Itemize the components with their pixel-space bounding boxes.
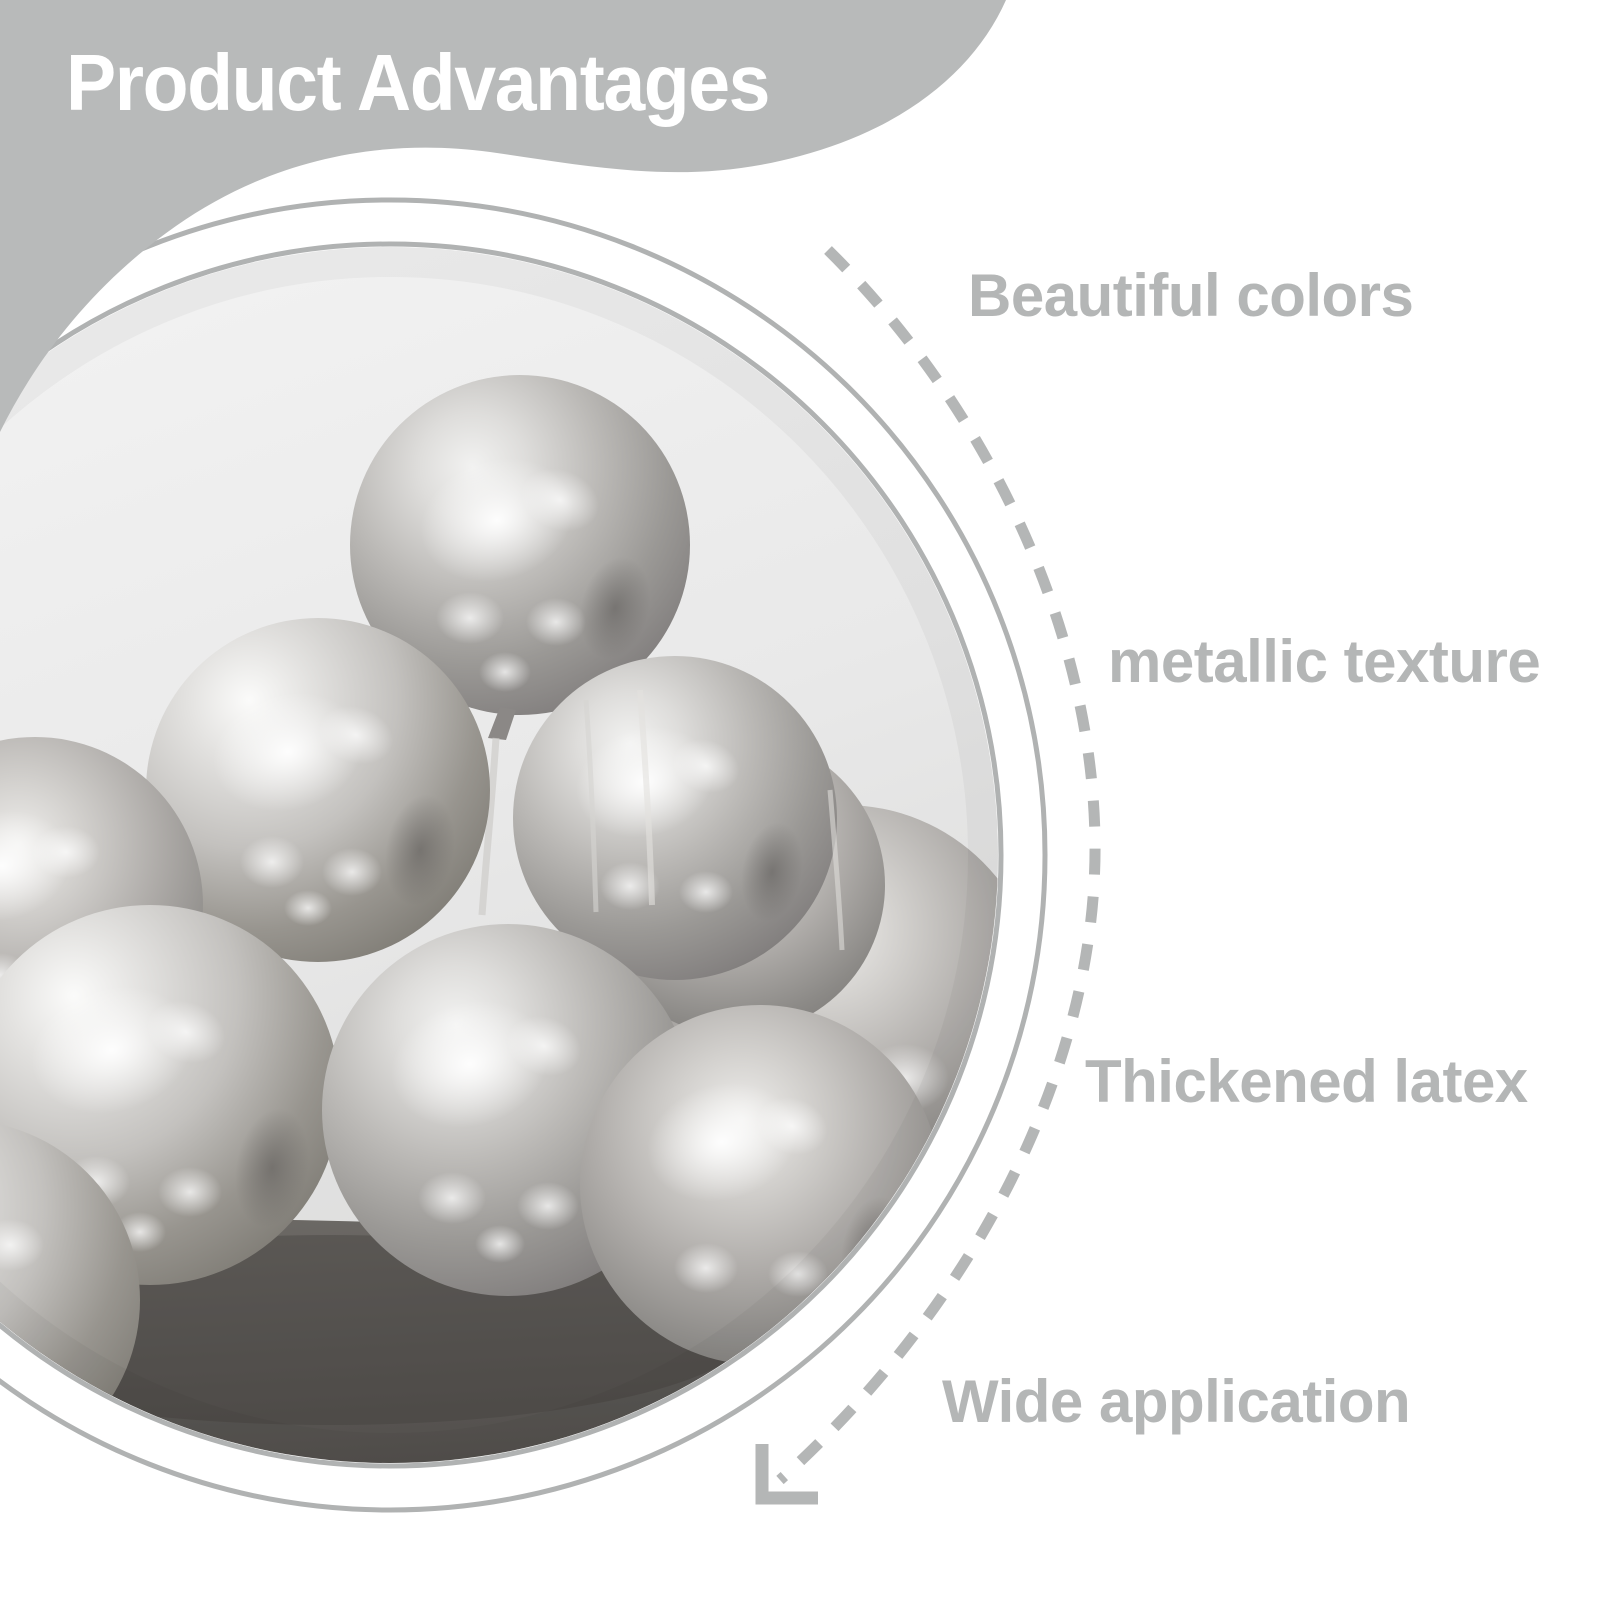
product-photo-circle: [0, 200, 1045, 1530]
feature-label-wide-application: Wide application: [942, 1372, 1410, 1432]
page-title: Product Advantages: [66, 43, 769, 123]
feature-label-beautiful-colors: Beautiful colors: [968, 266, 1413, 326]
balloon-right-mid: [513, 656, 837, 980]
infographic-artboard: [0, 0, 1600, 1600]
feature-label-thickened-latex: Thickened latex: [1085, 1052, 1528, 1112]
photo-content: [0, 240, 1040, 1530]
feature-label-metallic-texture: metallic texture: [1108, 632, 1540, 692]
infographic-canvas: Product Advantages Beautiful colors meta…: [0, 0, 1600, 1600]
